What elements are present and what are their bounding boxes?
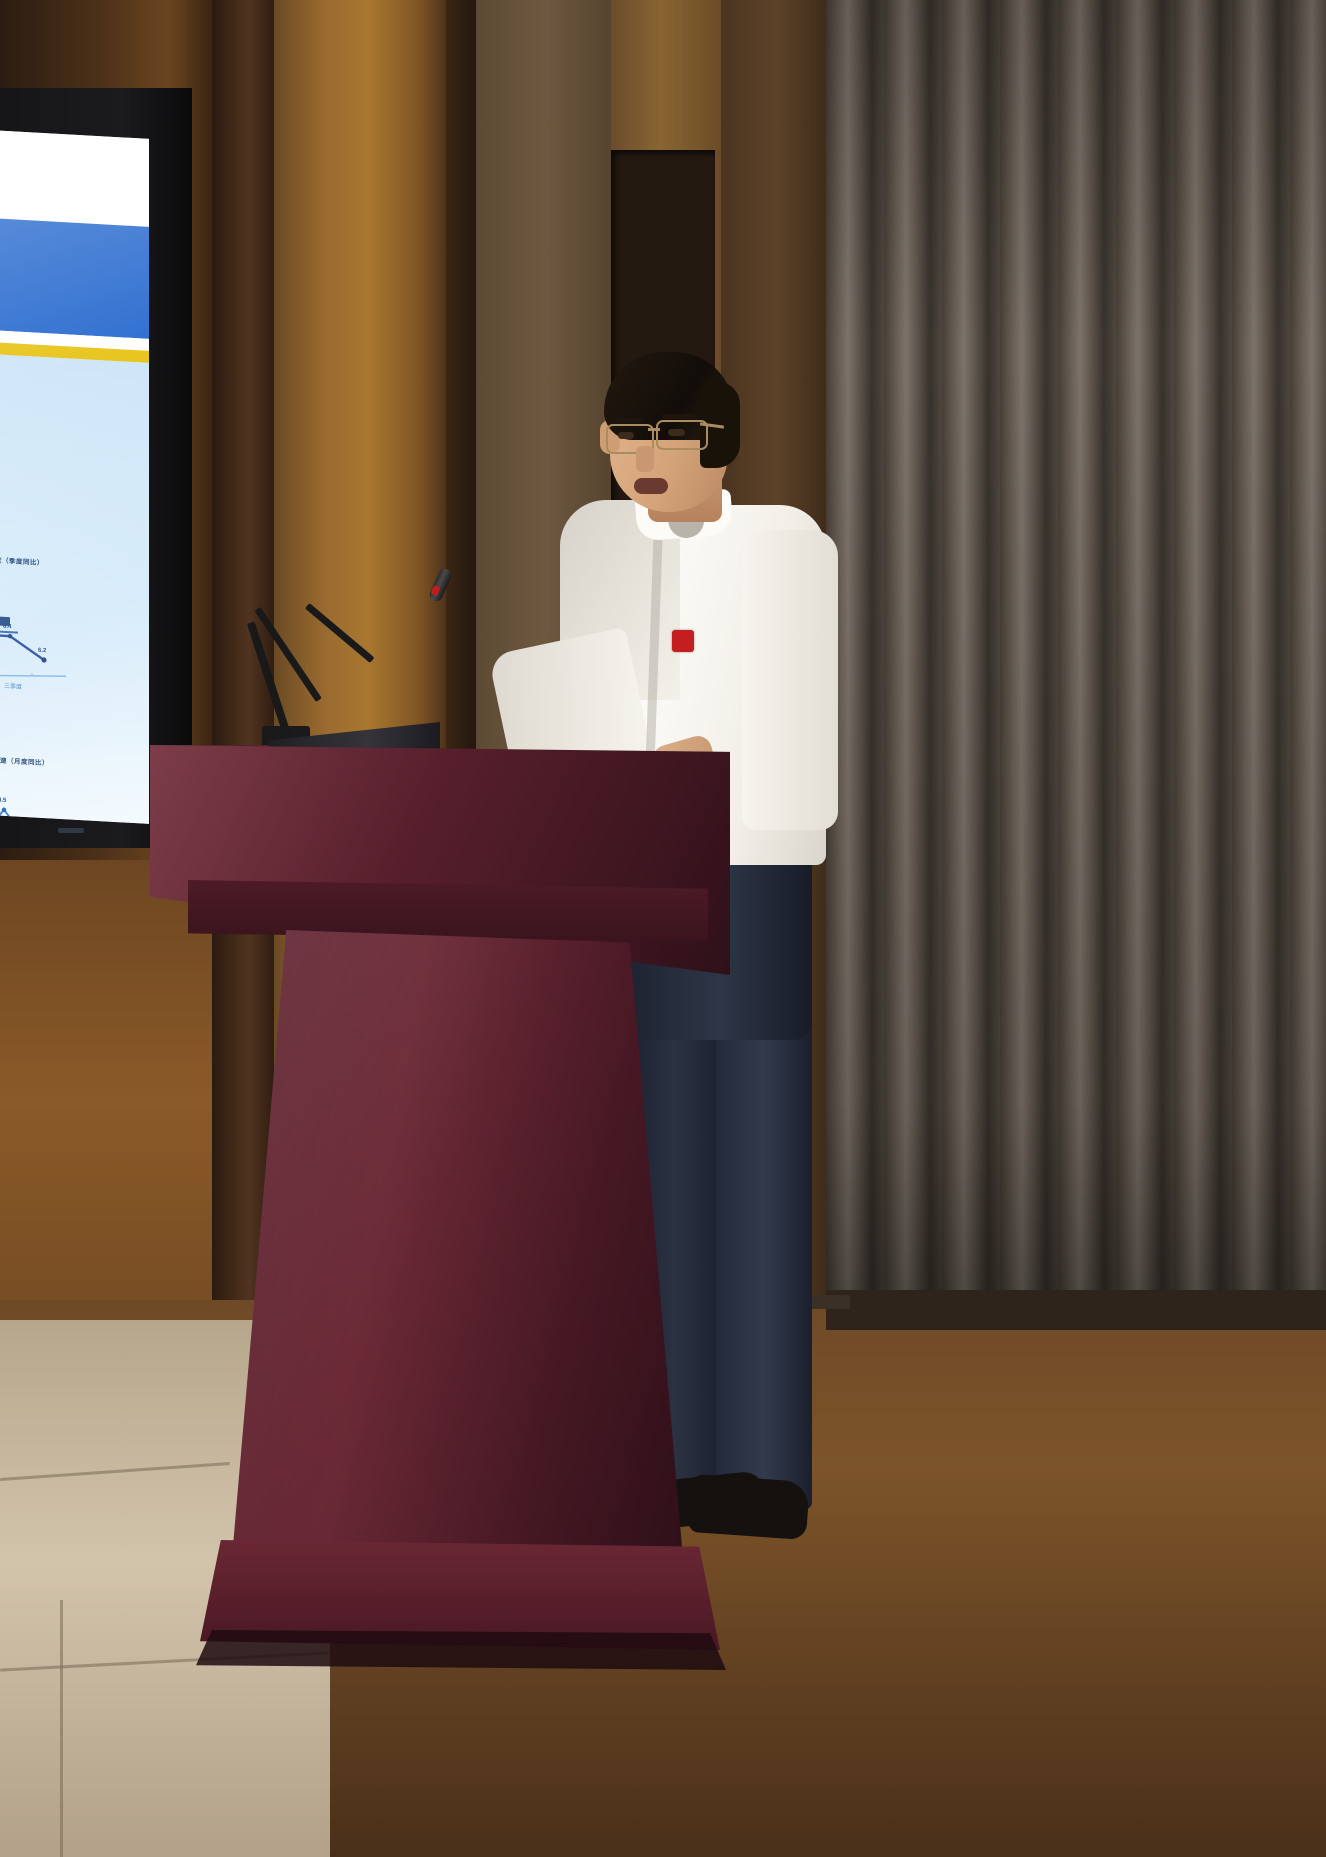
nose [636, 446, 654, 472]
eyebrow-left [614, 418, 644, 423]
eye-right [668, 429, 685, 436]
podium-column-sheen [232, 930, 684, 1570]
eyeglasses-bridge [648, 428, 660, 431]
mouth-open [634, 478, 668, 494]
shoe-right [688, 1474, 810, 1540]
floor-tile-seam [60, 1600, 63, 1857]
podium-base-shadow [196, 1630, 726, 1670]
podium-skirt [188, 880, 708, 942]
curtain-shading [826, 0, 1326, 1380]
shirt-right-sleeve [742, 530, 838, 830]
eyebrow-right [662, 414, 696, 419]
floor-baseboard [826, 1290, 1326, 1330]
display-power-led [58, 828, 84, 833]
screen-glare [0, 128, 149, 824]
eye-left [618, 432, 634, 439]
lapel-pin [672, 630, 694, 652]
photo-scene: 国内生产总值增长速度（季度同比） 6.4 6.4 6.2 [0, 0, 1326, 1857]
